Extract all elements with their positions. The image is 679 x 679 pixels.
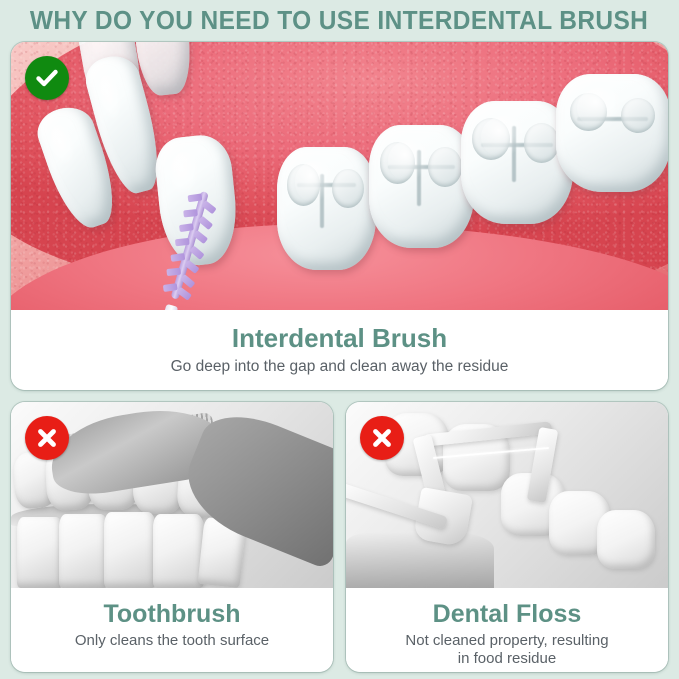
- gray-front-tooth-3: [104, 512, 156, 588]
- check-circle-icon: [25, 56, 69, 100]
- interdental-brush-caption: Interdental Brush Go deep into the gap a…: [11, 310, 668, 390]
- card-title-toothbrush: Toothbrush: [104, 600, 241, 628]
- card-dental-floss[interactable]: Dental Floss Not cleaned property, resul…: [346, 402, 668, 672]
- toothbrush-photo: [11, 402, 333, 588]
- toothbrush-caption: Toothbrush Only cleans the tooth surface: [11, 588, 333, 672]
- mouth-shadow: [346, 532, 494, 588]
- dental-floss-caption: Dental Floss Not cleaned property, resul…: [346, 588, 668, 672]
- card-title-interdental-brush: Interdental Brush: [232, 324, 447, 353]
- card-subtitle-interdental-brush: Go deep into the gap and clean away the …: [171, 358, 509, 377]
- page-title: WHY DO YOU NEED TO USE INTERDENTAL BRUSH: [30, 7, 648, 36]
- card-toothbrush[interactable]: Toothbrush Only cleans the tooth surface: [11, 402, 333, 672]
- header-bar: WHY DO YOU NEED TO USE INTERDENTAL BRUSH: [0, 0, 679, 42]
- cross-circle-icon: [360, 416, 404, 460]
- infographic-root: WHY DO YOU NEED TO USE INTERDENTAL BRUSH: [0, 0, 679, 679]
- cross-circle-icon: [25, 416, 69, 460]
- card-interdental-brush[interactable]: Interdental Brush Go deep into the gap a…: [11, 42, 668, 390]
- dental-floss-photo: [346, 402, 668, 588]
- card-title-dental-floss: Dental Floss: [433, 600, 582, 628]
- card-subtitle-dental-floss-line2: in food residue: [458, 650, 556, 668]
- brush-handle: [159, 304, 178, 310]
- gray-front-tooth-4: [153, 514, 205, 588]
- dental-scene: [11, 42, 668, 310]
- floss-scene-tooth-5: [597, 510, 655, 570]
- tooth-molar-1: [277, 147, 376, 270]
- interdental-brush-photo: [11, 42, 668, 310]
- tooth-molar-4: [556, 74, 668, 192]
- card-subtitle-dental-floss-line1: Not cleaned property, resulting: [405, 632, 608, 650]
- gray-front-tooth-1: [17, 517, 62, 588]
- bottom-card-row: Toothbrush Only cleans the tooth surface: [11, 402, 668, 672]
- tooth-molar-2: [369, 125, 474, 248]
- card-subtitle-toothbrush: Only cleans the tooth surface: [75, 632, 269, 650]
- gray-front-tooth-2: [59, 514, 107, 588]
